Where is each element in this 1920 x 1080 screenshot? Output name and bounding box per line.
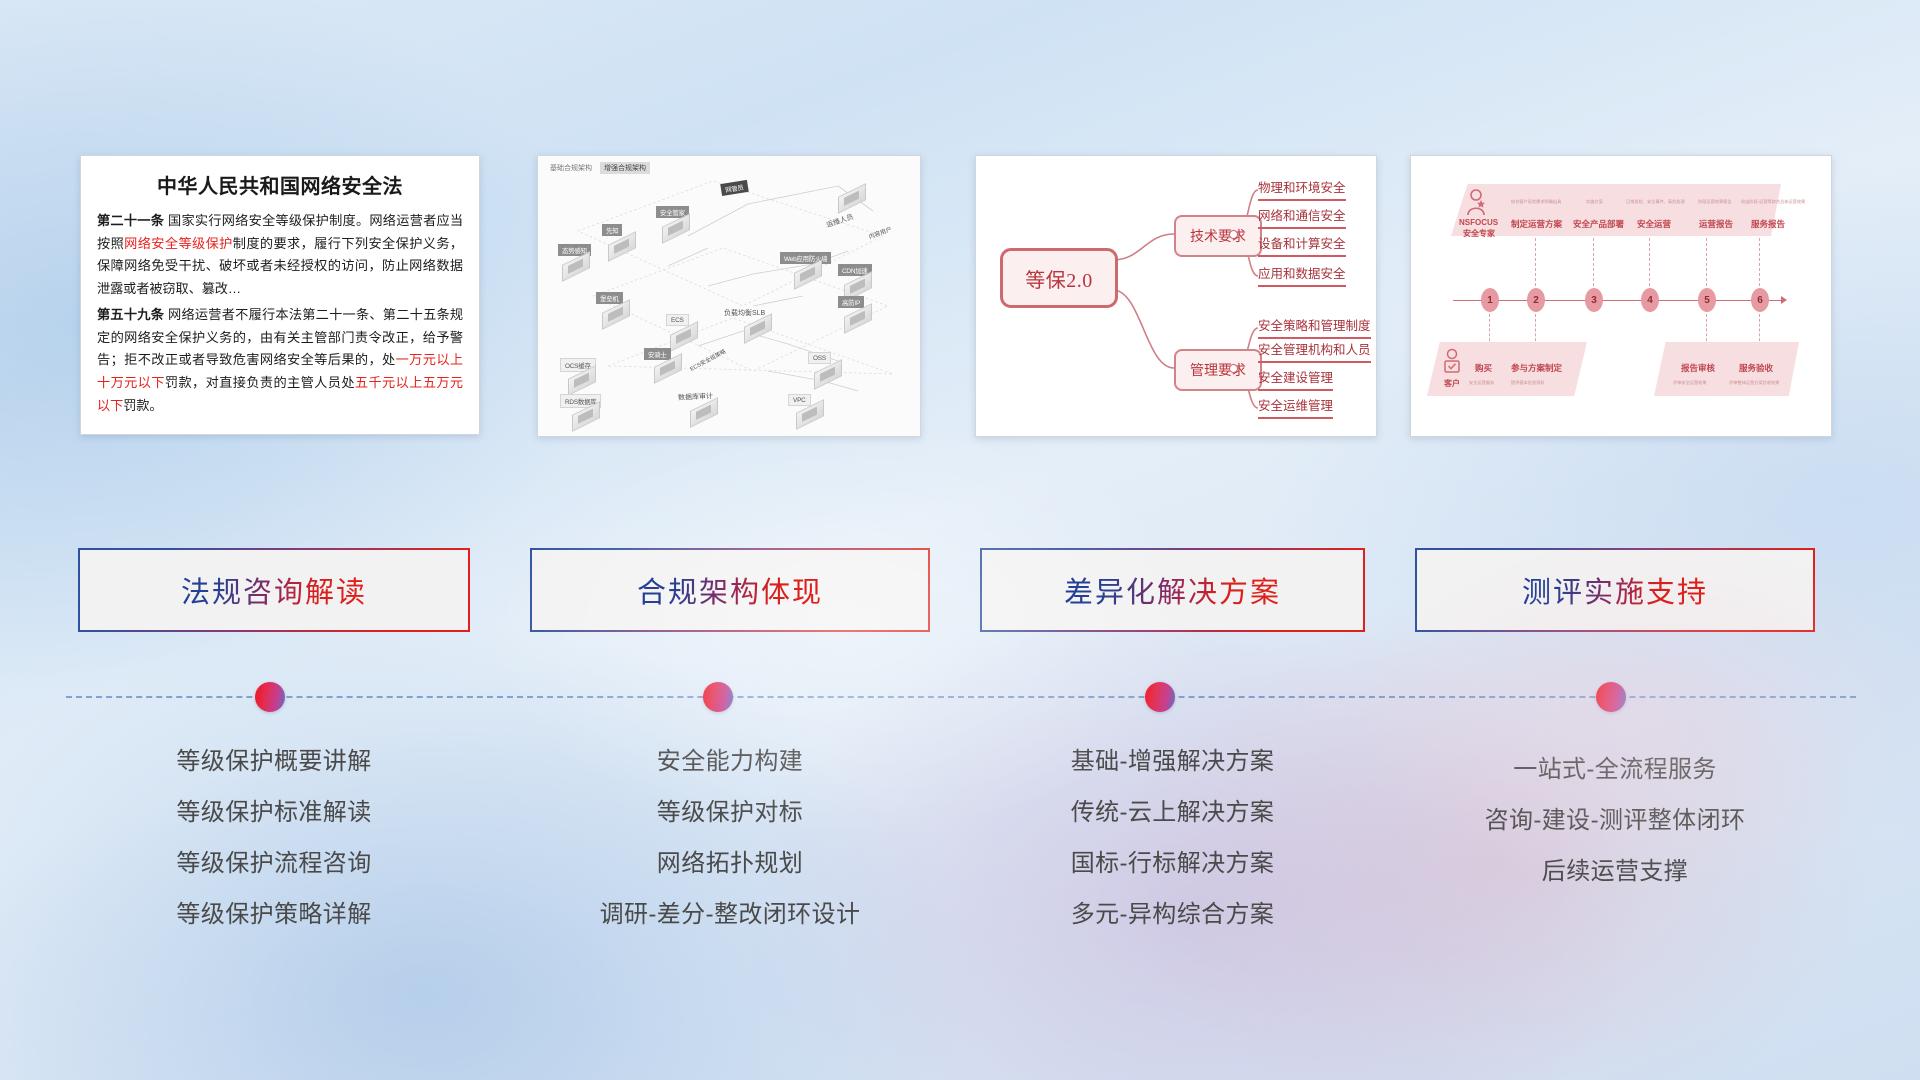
law-article-21-seg1: 网络安全等级保护 <box>124 236 233 251</box>
law-article-21-label: 第二十一条 <box>97 213 164 228</box>
mindmap-root: 等保2.0 <box>1000 248 1118 308</box>
top-step-2-sub: 实施方案 <box>1586 199 1603 205</box>
timeline-dot-4[interactable] <box>1596 682 1626 712</box>
mindmap-leaf-ops: 安全运维管理 <box>1258 395 1333 419</box>
connector-top-5 <box>1706 238 1707 286</box>
column-list-2: 安全能力构建 等级保护对标 网络拓扑规划 调研-差分-整改闭环设计 <box>530 750 930 954</box>
list-item: 等级保护概要讲解 <box>78 750 470 774</box>
list-item: 等级保护流程咨询 <box>78 852 470 876</box>
node-Web应用防火墙: Web应用防火墙 <box>780 252 831 264</box>
timeline-node-3: 3 <box>1585 288 1603 312</box>
timeline-axis <box>1453 300 1781 301</box>
timeline-node-4: 4 <box>1641 288 1659 312</box>
timeline-dot-3[interactable] <box>1145 682 1175 712</box>
top-step-2-main: 安全产品部署 <box>1573 218 1624 230</box>
list-item: 网络拓扑规划 <box>530 852 930 876</box>
list-item: 等级保护策略详解 <box>78 903 470 927</box>
law-article-59: 第五十九条 网络运营者不履行本法第二十一条、第二十五条规定的网络安全保护义务的，… <box>97 304 463 418</box>
top-step-1-sub: 结合客户现状需求明确出具 <box>1511 199 1561 205</box>
preview-cards: 中华人民共和国网络安全法 第二十一条 国家实行网络安全等级保护制度。网络运营者应… <box>0 0 1920 460</box>
column-list-3: 基础-增强解决方案 传统-云上解决方案 国标-行标解决方案 多元-异构综合方案 <box>980 750 1365 954</box>
mindmap-branch-management: 管理要求 <box>1174 349 1262 391</box>
top-step-5-sub: 给出阶段-运营等综合总体运营效果 <box>1741 199 1805 205</box>
mindmap-leaf-physical: 物理和环境安全 <box>1258 177 1346 201</box>
list-item: 后续运营支撑 <box>1415 860 1815 884</box>
mindmap-leaf-org: 安全管理机构和人员 <box>1258 339 1371 363</box>
list-item: 等级保护标准解读 <box>78 801 470 825</box>
top-step-4-sub: 阶段运营效果报告 <box>1698 199 1732 205</box>
node-负载均衡SLB: 负载均衡SLB <box>724 308 765 318</box>
connector-bottom-5 <box>1706 314 1707 346</box>
bottom-step-1-sub: 安全运营服务 <box>1469 380 1494 386</box>
mindmap-leaf-policy: 安全策略和管理制度 <box>1258 315 1371 339</box>
customer-label: 客户 <box>1444 378 1460 389</box>
node-安骑士: 安骑士 <box>644 348 671 360</box>
connector-top-3 <box>1593 238 1594 286</box>
list-item: 安全能力构建 <box>530 750 930 774</box>
timeline-node-1: 1 <box>1481 288 1499 312</box>
list-item: 咨询-建设-测评整体闭环 <box>1415 809 1815 833</box>
node-ECS: ECS <box>666 314 689 326</box>
top-step-3-sub: 日常巡检、安全事件、高危处理 <box>1626 199 1685 205</box>
connector-top-2 <box>1535 238 1536 286</box>
node-VPC: VPC <box>788 394 811 406</box>
vendor-role: 安全专家 <box>1463 228 1495 239</box>
security-expert-icon <box>1463 188 1489 218</box>
mindmap-leaf-device: 设备和计算安全 <box>1258 233 1346 257</box>
bottom-step-3-main: 报告审核 <box>1681 362 1715 374</box>
list-item: 基础-增强解决方案 <box>980 750 1365 774</box>
mindmap-collapse-dot-management[interactable] <box>1229 364 1238 373</box>
label-box-assessment-support-text: 测评实施支持 <box>1522 569 1708 611</box>
connector-bottom-1 <box>1489 314 1490 346</box>
label-box-compliance-architecture[interactable]: 合规架构体现 <box>530 548 930 632</box>
card-cybersecurity-law[interactable]: 中华人民共和国网络安全法 第二十一条 国家实行网络安全等级保护制度。网络运营者应… <box>80 155 480 435</box>
node-高防IP: 高防IP <box>838 296 864 308</box>
bottom-step-4-main: 服务验收 <box>1739 362 1773 374</box>
card-nsfocus-service-flow[interactable]: NSFOCUS 安全专家 结合客户现状需求明确出具 制定运营方案 实施方案 安全… <box>1410 155 1832 437</box>
law-article-59-label: 第五十九条 <box>97 307 164 322</box>
mindmap-leaf-build: 安全建设管理 <box>1258 367 1333 391</box>
bottom-step-2-main: 参与方案制定 <box>1511 362 1562 374</box>
bottom-step-2-sub: 提供基本信息资料 <box>1511 380 1545 386</box>
label-box-differentiated-solution-text: 差异化解决方案 <box>1064 569 1281 611</box>
card-mindmap-dengbao[interactable]: 等保2.0 技术要求 物理和环境安全 网络和通信安全 设备和计算安全 应用和数据… <box>975 155 1377 437</box>
column-list-4: 一站式-全流程服务 咨询-建设-测评整体闭环 后续运营支撑 <box>1415 758 1815 911</box>
label-box-regulation-consulting-text: 法规咨询解读 <box>181 569 367 611</box>
timeline-node-6: 6 <box>1751 288 1769 312</box>
timeline-node-2: 2 <box>1527 288 1545 312</box>
list-item: 传统-云上解决方案 <box>980 801 1365 825</box>
mindmap-leaf-network: 网络和通信安全 <box>1258 205 1346 229</box>
bottom-step-3-sub: 评审安全运营效果 <box>1673 380 1707 386</box>
vendor-name: NSFOCUS <box>1459 218 1498 227</box>
top-step-1-main: 制定运营方案 <box>1511 218 1562 230</box>
label-box-regulation-consulting[interactable]: 法规咨询解读 <box>78 548 470 632</box>
list-item: 调研-差分-整改闭环设计 <box>530 903 930 927</box>
mindmap-collapse-dot-technical[interactable] <box>1229 230 1238 239</box>
top-step-5-main: 服务报告 <box>1751 218 1785 230</box>
list-item: 国标-行标解决方案 <box>980 852 1365 876</box>
slide-root: 中华人民共和国网络安全法 第二十一条 国家实行网络安全等级保护制度。网络运营者应… <box>0 0 1920 1080</box>
node-OSS: OSS <box>808 352 831 364</box>
law-article-21: 第二十一条 国家实行网络安全等级保护制度。网络运营者应当按照网络安全等级保护制度… <box>97 210 463 301</box>
timeline-arrow-icon <box>1781 296 1787 304</box>
mindmap-branch-technical: 技术要求 <box>1174 215 1262 257</box>
list-item: 多元-异构综合方案 <box>980 903 1365 927</box>
label-box-compliance-architecture-text: 合规架构体现 <box>637 569 823 611</box>
connector-bottom-6 <box>1759 314 1760 346</box>
column-list-1: 等级保护概要讲解 等级保护标准解读 等级保护流程咨询 等级保护策略详解 <box>78 750 470 954</box>
customer-icon <box>1441 348 1463 378</box>
timeline-node-5: 5 <box>1698 288 1716 312</box>
law-title: 中华人民共和国网络安全法 <box>97 170 463 199</box>
bottom-step-4-sub: 评审整体运营方案验收效果 <box>1729 380 1779 386</box>
connector-top-6 <box>1759 238 1760 286</box>
list-item: 一站式-全流程服务 <box>1415 758 1815 782</box>
law-article-59-seg2: 罚款，对直接负责的主管人员处 <box>165 375 355 390</box>
top-step-4-main: 运营报告 <box>1699 218 1733 230</box>
node-先知: 先知 <box>602 224 622 236</box>
timeline-dot-2[interactable] <box>703 682 733 712</box>
node-堡垒机: 堡垒机 <box>596 292 623 304</box>
timeline-dashed-line <box>66 696 1856 698</box>
connector-bottom-2 <box>1535 314 1536 346</box>
connector-top-4 <box>1649 238 1650 286</box>
card-compliance-architecture[interactable]: 基础合规架构 增强合规架构 网管员 <box>537 155 921 437</box>
law-article-59-seg4: 罚款。 <box>123 398 162 413</box>
bottom-step-1-main: 购买 <box>1475 362 1492 374</box>
audit-band <box>1654 342 1799 396</box>
list-item: 等级保护对标 <box>530 801 930 825</box>
top-step-3-main: 安全运营 <box>1637 218 1671 230</box>
timeline-dot-1[interactable] <box>255 682 285 712</box>
label-box-differentiated-solution[interactable]: 差异化解决方案 <box>980 548 1365 632</box>
label-box-assessment-support[interactable]: 测评实施支持 <box>1415 548 1815 632</box>
mindmap-leaf-application: 应用和数据安全 <box>1258 263 1346 287</box>
